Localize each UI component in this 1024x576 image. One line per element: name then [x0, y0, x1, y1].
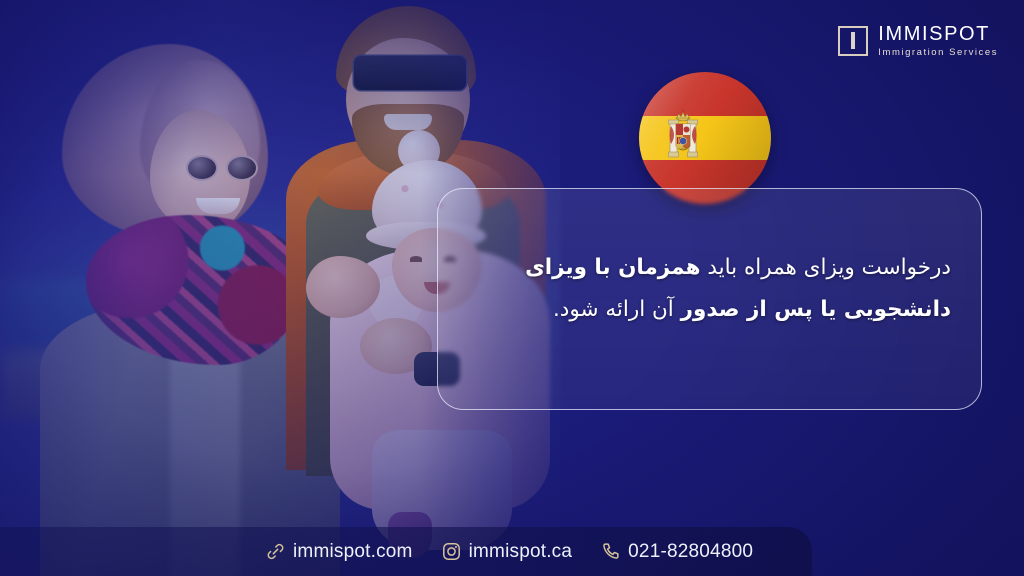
footer-label-website: immispot.com — [293, 541, 413, 563]
phone-icon — [600, 541, 621, 562]
footer-item-phone[interactable]: 021-82804800 — [600, 541, 753, 563]
logo-tagline: Immigration Services — [878, 48, 998, 58]
footer-item-instagram[interactable]: immispot.ca — [441, 541, 573, 563]
footer-item-website[interactable]: immispot.com — [265, 541, 413, 563]
message-text-part-1: درخواست ویزای همراه باید — [701, 255, 952, 280]
flag-gloss-highlight — [639, 72, 771, 204]
footer-label-instagram: immispot.ca — [469, 541, 573, 563]
message-text-part-2: آن ارائه شود. — [553, 297, 681, 322]
brand-logo[interactable]: IMMISPOT Immigration Services — [838, 24, 998, 58]
message-text: درخواست ویزای همراه باید همزمان با ویزای… — [468, 247, 951, 331]
banner: IMMISPOT Immigration Services — [0, 0, 1024, 576]
instagram-icon — [441, 541, 462, 562]
immispot-square-i-icon — [838, 26, 868, 56]
logo-text-block: IMMISPOT Immigration Services — [878, 24, 998, 58]
link-icon — [265, 541, 286, 562]
footer-contact-list: immispot.com immispot.ca 021-82804800 — [265, 527, 753, 576]
footer-label-phone: 021-82804800 — [628, 541, 753, 563]
logo-name: IMMISPOT — [878, 24, 998, 44]
spain-flag-circle-icon — [639, 72, 771, 204]
message-card: درخواست ویزای همراه باید همزمان با ویزای… — [437, 188, 982, 410]
